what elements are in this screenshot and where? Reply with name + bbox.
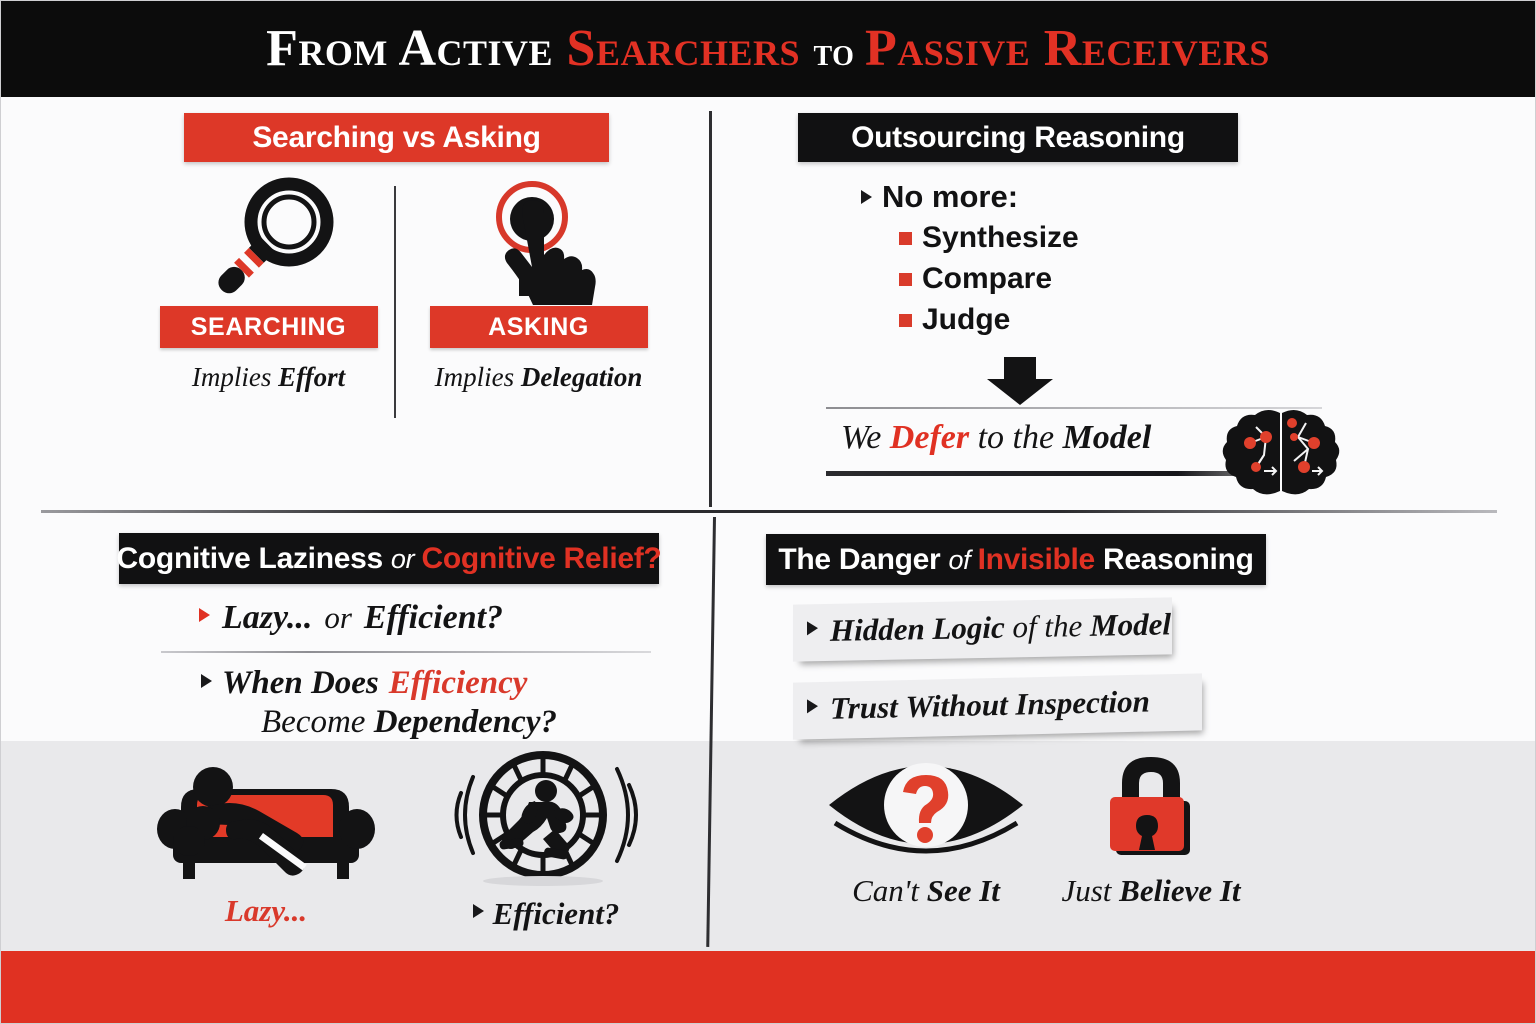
icon-cell-lazy: Lazy... [141,749,391,929]
sub-bullet-row: Synthesize [899,221,1301,255]
vertical-divider-top [709,111,712,507]
q3-line-become-dependency: Become Dependency? [261,704,671,741]
card-trust-without-inspection-text: Trust Without Inspection [830,684,1150,727]
q3-efficiency-label: Efficiency [389,665,528,702]
header-danger-invisible-reasoning: The Danger of Invisible Reasoning [766,534,1266,585]
quadrant-invisible-reasoning: Hidden Logic of the Model Trust Without … [793,601,1213,741]
column-searching: SEARCHING Implies Effort [146,176,391,426]
magnifying-glass-icon [194,176,344,306]
card-hidden-logic-text: Hidden Logic of the Model [830,606,1171,649]
triangle-bullet-red-icon [199,608,210,622]
sub-bullet-row: Judge [899,303,1301,337]
header-outsourcing-reasoning: Outsourcing Reasoning [798,113,1238,162]
quadrant-invisible-reasoning-icons: Can't See It Just Believe It [801,749,1281,939]
column-asking: ASKING Implies Delegation [416,176,661,426]
square-bullet-icon [899,314,912,327]
header-searching-vs-asking-label: Searching vs Asking [252,121,540,155]
triangle-bullet-icon [861,190,872,204]
brain-network-icon [1226,407,1336,497]
padlock-icon [1026,749,1276,869]
title-part-1: From Active [266,20,566,77]
page-title: From Active Searchers to Passive Receive… [266,23,1270,75]
triangle-bullet-icon [201,674,212,688]
title-bar: From Active Searchers to Passive Receive… [1,1,1535,97]
q3-separator [161,651,651,653]
caption-cant-see-it: Can't See It [801,873,1051,909]
hamster-wheel-runner-icon [421,749,671,889]
title-part-2: Searchers [567,20,814,77]
defer-conclusion-text: We Defer to the Model [841,419,1151,457]
q1-column-divider [394,186,396,418]
tap-hand-icon [469,176,609,306]
pill-searching-label: SEARCHING [191,313,346,342]
icon-cell-just-believe-it: Just Believe It [1026,749,1276,909]
sub-bullet-label-compare: Compare [922,262,1052,296]
triangle-bullet-icon [807,699,818,713]
lead-bullet-label: No more: [882,179,1018,215]
quadrant-searching-vs-asking: SEARCHING Implies Effort ASKING Implies … [141,176,671,436]
infographic-poster: From Active Searchers to Passive Receive… [0,0,1536,1024]
quadrant-cognitive-laziness: Lazy... or Efficient? When Does Efficien… [151,599,671,739]
caption-just-believe-it: Just Believe It [1026,873,1276,909]
card-trust-without-inspection: Trust Without Inspection [793,673,1202,739]
icon-cell-efficient: Efficient? [421,749,671,932]
subtitle-asking: Implies Delegation [435,362,643,393]
quadrant-outsourcing-reasoning: No more: Synthesize Compare Judge [861,179,1301,499]
header-outsourcing-reasoning-label: Outsourcing Reasoning [851,121,1185,155]
q3-efficient-label: Efficient? [364,599,503,637]
pill-asking-label: ASKING [488,313,589,342]
person-on-couch-icon [141,749,391,889]
title-part-3: to [814,29,865,74]
lead-bullet-row: No more: [861,179,1301,215]
down-arrow-icon [983,357,1057,405]
q3-lazy-label: Lazy... [222,599,312,637]
icon-cell-cant-see-it: Can't See It [801,749,1051,909]
q3-line-when-does-efficiency: When Does Efficiency [201,665,671,702]
bottom-red-bar [1,951,1535,1023]
triangle-bullet-icon [473,904,484,918]
caption-lazy: Lazy... [141,893,391,929]
header-cognitive-laziness-label: Cognitive Laziness or Cognitive Relief? [117,542,662,576]
quadrant-cognitive-laziness-icons: Lazy... [141,749,681,939]
triangle-bullet-icon [807,621,818,635]
sub-bullet-list: Synthesize Compare Judge [899,221,1301,337]
header-danger-invisible-reasoning-label: The Danger of Invisible Reasoning [778,543,1253,577]
defer-rule-bottom [826,471,1266,476]
q3-line-lazy-or-efficient: Lazy... or Efficient? [199,599,671,637]
subtitle-searching: Implies Effort [192,362,345,393]
sub-bullet-label-judge: Judge [922,303,1010,337]
horizontal-divider [41,510,1497,513]
defer-conclusion: We Defer to the Model [826,407,1326,481]
caption-efficient: Efficient? [421,893,671,932]
header-cognitive-laziness: Cognitive Laziness or Cognitive Relief? [119,533,659,584]
pill-searching: SEARCHING [160,306,378,348]
eye-question-mark-icon [801,749,1051,869]
square-bullet-icon [899,273,912,286]
sub-bullet-row: Compare [899,262,1301,296]
q3-when-does-label: When Does [222,665,379,702]
card-hidden-logic: Hidden Logic of the Model [793,597,1172,661]
title-part-4: Passive Receivers [865,20,1270,77]
header-searching-vs-asking: Searching vs Asking [184,113,609,162]
q3-or-label: or [324,600,352,636]
sub-bullet-label-synthesize: Synthesize [922,221,1079,255]
pill-asking: ASKING [430,306,648,348]
square-bullet-icon [899,232,912,245]
